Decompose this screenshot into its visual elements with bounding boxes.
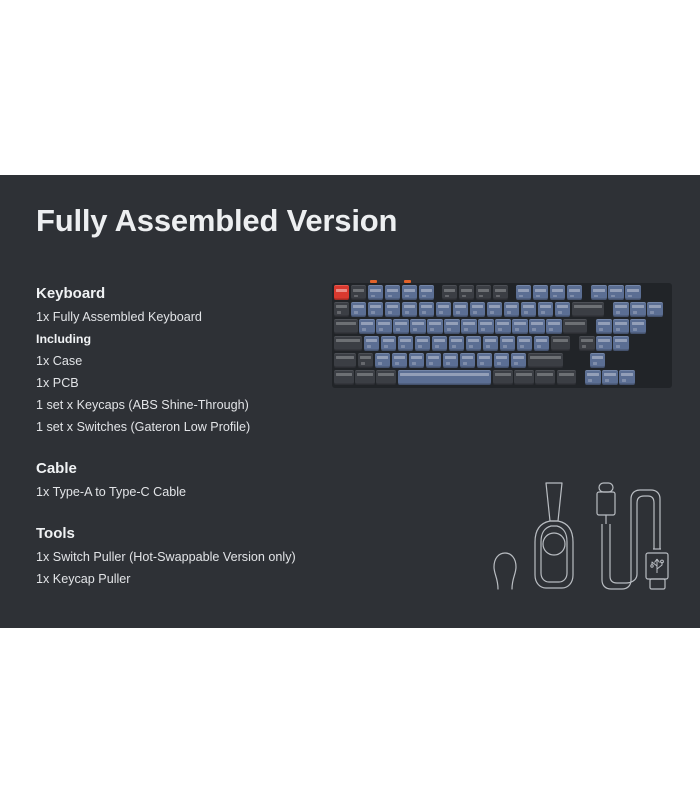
keyboard-spacer [572,336,578,351]
keycap-legend [615,305,626,308]
keycap-legend [506,305,517,308]
keycap-legend [461,289,472,292]
keycap-legend [569,289,580,292]
keyboard-key [630,319,645,334]
keycap-sublegend [384,345,388,348]
keycap-sublegend [396,328,400,331]
keycap-legend [478,289,489,292]
keycap-legend [523,305,534,308]
keycap-sublegend [430,328,434,331]
keyboard-key [436,302,451,317]
keyboard-key [590,353,605,368]
keycap-sublegend [473,311,477,314]
keyboard-key [381,336,396,351]
keyboard-key [529,319,544,334]
switch-puller-icon [535,483,573,588]
keycap-legend [395,322,406,325]
keycap-legend [632,322,643,325]
keyboard-key [368,302,383,317]
section-tools: Tools 1x Switch Puller (Hot-Swappable Ve… [36,523,336,590]
keyboard-key [334,319,358,334]
keycap-puller-icon [494,553,516,589]
keyboard-key [385,302,400,317]
keycap-sublegend [537,345,541,348]
keyboard-key [521,302,536,317]
keyboard-row [334,319,670,334]
keycap-legend [632,305,643,308]
keycap-legend [383,339,394,342]
keyboard-key [459,285,474,300]
list-item: 1 set x Switches (Gateron Low Profile) [36,416,336,438]
keyboard-key [355,370,375,385]
keycap-sublegend [611,295,615,298]
keycap-sublegend [520,345,524,348]
keycap-legend [598,339,609,342]
keycap-sublegend [524,311,528,314]
keyboard-key [393,319,408,334]
keycap-legend [360,356,371,359]
keycap-legend [552,289,563,292]
keyboard-key [613,302,628,317]
keycap-sublegend [388,311,392,314]
keyboard-key [585,370,600,385]
page-bottom-area [0,628,700,800]
keyboard-key [398,336,413,351]
keyboard-key [596,319,611,334]
keycap-sublegend [446,362,450,365]
keyboard-key [358,353,373,368]
keycap-sublegend [514,362,518,365]
keycap-legend [535,289,546,292]
keyboard-key [563,319,587,334]
keycap-legend [649,305,660,308]
keycap-sublegend [388,295,392,298]
keyboard-key [602,370,617,385]
keycap-legend [496,356,507,359]
keycap-legend [518,289,529,292]
keyboard-key [613,319,628,334]
keycap-legend [516,373,532,376]
keycap-legend [627,289,638,292]
keyboard-key [359,319,374,334]
section-heading: Cable [36,458,336,480]
keyboard-row [334,285,670,300]
keycap-legend [451,339,462,342]
list-item: 1x Type-A to Type-C Cable [36,481,336,503]
keycap-sublegend [515,328,519,331]
keycap-legend [421,305,432,308]
keyboard-key [476,285,491,300]
keyboard-key [528,353,564,368]
keyboard-key [514,370,534,385]
keycap-sublegend [362,328,366,331]
keycap-sublegend [469,345,473,348]
keyboard-key [442,285,457,300]
keyboard-key [368,285,383,300]
keycap-legend [434,339,445,342]
keycap-sublegend [593,362,597,365]
keyboard-key [495,319,510,334]
keyboard-key [533,285,548,300]
keyboard-row [334,370,670,385]
keyboard-key [334,336,362,351]
keycap-legend [497,322,508,325]
keyboard-key [555,302,570,317]
keyboard-key [449,336,464,351]
keyboard-key [419,302,434,317]
keycap-legend [387,289,398,292]
keycap-legend [468,339,479,342]
keyboard-key [477,353,492,368]
keycap-sublegend [616,345,620,348]
keycap-legend [353,289,364,292]
keyboard-key [551,336,571,351]
keycap-legend [472,305,483,308]
keycap-sublegend [519,295,523,298]
keycap-sublegend [549,328,553,331]
keyboard-key [460,353,475,368]
keycap-legend [536,339,547,342]
keycap-sublegend [447,328,451,331]
keycap-sublegend [464,328,468,331]
list-item: 1x Case [36,350,336,372]
keycap-legend [593,289,604,292]
keycap-legend [336,305,347,308]
keycap-sublegend [413,328,417,331]
keycap-legend [446,322,457,325]
keyboard-key [443,353,458,368]
keycap-sublegend [479,295,483,298]
keycap-legend [540,305,551,308]
keyboard-key [567,285,582,300]
keycap-legend [336,356,354,359]
keycap-sublegend [536,295,540,298]
keycap-sublegend [439,311,443,314]
keycap-legend [444,289,455,292]
keyboard-key [351,302,366,317]
keycap-sublegend [354,311,358,314]
keyboard-key [375,353,390,368]
keycap-sublegend [337,311,341,314]
keyboard-key [596,336,611,351]
keyboard-key [557,370,577,385]
keycap-legend [336,373,352,376]
keyboard-key [334,302,349,317]
list-subheading: Including [36,328,336,350]
keyboard-key [511,353,526,368]
keyboard-row [334,353,670,368]
keyboard-key [630,302,645,317]
keycap-sublegend [541,311,545,314]
keyboard-key [493,285,508,300]
keyboard-key [613,336,628,351]
keyboard-product-image [332,283,672,388]
keyboard-row [334,302,670,317]
keyboard-key [351,285,366,300]
keyboard-key [608,285,623,300]
keyboard-spacer [584,285,590,300]
keycap-legend [513,356,524,359]
keyboard-spacer [436,285,440,300]
keyboard-key [483,336,498,351]
keyboard-key [579,336,594,351]
keyboard-key [334,353,356,368]
list-item: 1 set x Keycaps (ABS Shine-Through) [36,394,336,416]
keycap-legend [598,322,609,325]
keycap-legend [548,322,559,325]
keycap-legend [502,339,513,342]
contents-list: Keyboard 1x Fully Assembled Keyboard Inc… [36,283,336,590]
keycap-sublegend [371,311,375,314]
keyboard-key [572,302,604,317]
keyboard-key [453,302,468,317]
keycap-sublegend [452,345,456,348]
keycap-legend [463,322,474,325]
keyboard-key [409,353,424,368]
keycap-sublegend [462,295,466,298]
keycap-legend [479,356,490,359]
keycap-sublegend [622,379,626,382]
keycap-sublegend [405,295,409,298]
keyboard-key [427,319,442,334]
keyboard-key [534,336,549,351]
keycap-legend [361,322,372,325]
keycap-legend [336,339,360,342]
keycap-sublegend [463,362,467,365]
keycap-legend [495,373,511,376]
keycap-legend [400,339,411,342]
keycap-legend [480,322,491,325]
keycap-sublegend [422,311,426,314]
keycap-legend [366,339,377,342]
keycap-sublegend [633,328,637,331]
list-item: 1x Fully Assembled Keyboard [36,306,336,328]
keycap-legend [574,305,602,308]
keycap-legend [615,339,626,342]
keycap-legend [587,373,598,376]
keycap-legend [489,305,500,308]
keycap-sublegend [435,345,439,348]
keyboard-key [334,370,354,385]
keyboard-row [334,336,670,351]
keycap-sublegend [354,295,358,298]
keycap-legend [387,305,398,308]
keyboard-key [334,285,349,300]
accessory-illustrations [480,470,680,590]
keyboard-key [432,336,447,351]
keyboard-key [546,319,561,334]
keycap-sublegend [405,311,409,314]
keycap-sublegend [418,345,422,348]
keycap-legend [378,322,389,325]
keyboard-key [494,353,509,368]
keycap-legend [336,322,356,325]
keycap-legend [412,322,423,325]
keyboard-key [470,302,485,317]
keycap-legend [462,356,473,359]
keycap-sublegend [605,379,609,382]
keycap-sublegend [429,362,433,365]
keycap-legend [438,305,449,308]
indicator-led [370,280,377,283]
keyboard-spacer [607,353,622,368]
keycap-legend [519,339,530,342]
keyboard-key [625,285,640,300]
keycap-legend [445,356,456,359]
keycap-sublegend [378,362,382,365]
keycap-legend [378,373,394,376]
keycap-sublegend [395,362,399,365]
keyboard-spacer [589,319,595,334]
keycap-legend [370,305,381,308]
keyboard-key [402,285,417,300]
keyboard-spacer [606,302,612,317]
section-keyboard: Keyboard 1x Fully Assembled Keyboard Inc… [36,283,336,438]
keycap-legend [514,322,525,325]
keyboard-key [444,319,459,334]
keycap-legend [377,356,388,359]
keycap-sublegend [650,311,654,314]
keycap-sublegend [481,328,485,331]
list-item: 1x Switch Puller (Hot-Swappable Version … [36,546,336,568]
keyboard-key [402,302,417,317]
keycap-sublegend [498,328,502,331]
keycap-sublegend [633,311,637,314]
keycap-sublegend [361,362,365,365]
keyboard-key [415,336,430,351]
keycap-legend [421,289,432,292]
keycap-sublegend [594,295,598,298]
keyboard-key [647,302,662,317]
keyboard-key [398,370,492,385]
keycap-sublegend [379,328,383,331]
page-title: Fully Assembled Version [36,203,397,239]
keyboard-spacer [510,285,514,300]
keyboard-key [517,336,532,351]
keycap-legend [604,373,615,376]
indicator-led [404,280,411,283]
section-heading: Tools [36,523,336,545]
keycap-legend [592,356,603,359]
keycap-sublegend [401,345,405,348]
keyboard-key [591,285,606,300]
keyboard-key [487,302,502,317]
keyboard-key [466,336,481,351]
keycap-sublegend [496,295,500,298]
keycap-sublegend [628,295,632,298]
keycap-legend [370,289,381,292]
keycap-legend [610,289,621,292]
keyboard-key [619,370,634,385]
keycap-legend [429,322,440,325]
keycap-legend [404,289,415,292]
keyboard-key [478,319,493,334]
keycap-legend [353,305,364,308]
keyboard-key [410,319,425,334]
keycap-sublegend [616,311,620,314]
keycap-legend [615,322,626,325]
list-item: 1x Keycap Puller [36,568,336,590]
keycap-sublegend [480,362,484,365]
keyboard-key [500,336,515,351]
keyboard-key [376,370,396,385]
keycap-sublegend [497,362,501,365]
keyboard-key [504,302,519,317]
keycap-legend [428,356,439,359]
keyboard-key [461,319,476,334]
keycap-legend [559,373,575,376]
keycap-legend [357,373,373,376]
keyboard-key [426,353,441,368]
keyboard-key [376,319,391,334]
keyboard-key [392,353,407,368]
keycap-sublegend [503,345,507,348]
keycap-sublegend [558,311,562,314]
keycap-legend [400,373,490,376]
keycap-legend [455,305,466,308]
keycap-legend [621,373,632,376]
keyboard-key [493,370,513,385]
keyboard-key [385,285,400,300]
keycap-sublegend [616,328,620,331]
keycap-legend [581,339,592,342]
keyboard-key [512,319,527,334]
keycap-legend [485,339,496,342]
keycap-sublegend [456,311,460,314]
keycap-sublegend [486,345,490,348]
keyboard-key [419,285,434,300]
section-heading: Keyboard [36,283,336,305]
keycap-sublegend [371,295,375,298]
keycap-sublegend [507,311,511,314]
keycap-legend [411,356,422,359]
keyboard-key [364,336,379,351]
section-cable: Cable 1x Type-A to Type-C Cable [36,458,336,503]
keycap-legend [530,356,562,359]
keycap-legend [565,322,585,325]
keycap-sublegend [412,362,416,365]
keycap-sublegend [588,379,592,382]
keycap-sublegend [445,295,449,298]
keyboard-key [535,370,555,385]
keycap-sublegend [422,295,426,298]
keyboard-spacer [565,353,571,368]
keycap-legend [336,289,347,292]
keycap-legend [417,339,428,342]
keycap-legend [404,305,415,308]
keyboard-spacer [573,353,588,368]
keycap-legend [553,339,569,342]
keycap-sublegend [599,345,603,348]
keycap-sublegend [532,328,536,331]
list-item: 1x PCB [36,372,336,394]
keycap-legend [557,305,568,308]
keycap-sublegend [570,295,574,298]
keyboard-spacer [578,370,584,385]
keycap-sublegend [582,345,586,348]
usb-cable-icon [597,483,668,589]
keycap-sublegend [553,295,557,298]
keycap-sublegend [367,345,371,348]
keyboard-key [516,285,531,300]
keycap-sublegend [599,328,603,331]
keyboard-key [538,302,553,317]
keycap-legend [537,373,553,376]
keyboard-key [550,285,565,300]
keycap-legend [495,289,506,292]
keycap-sublegend [490,311,494,314]
keycap-legend [531,322,542,325]
